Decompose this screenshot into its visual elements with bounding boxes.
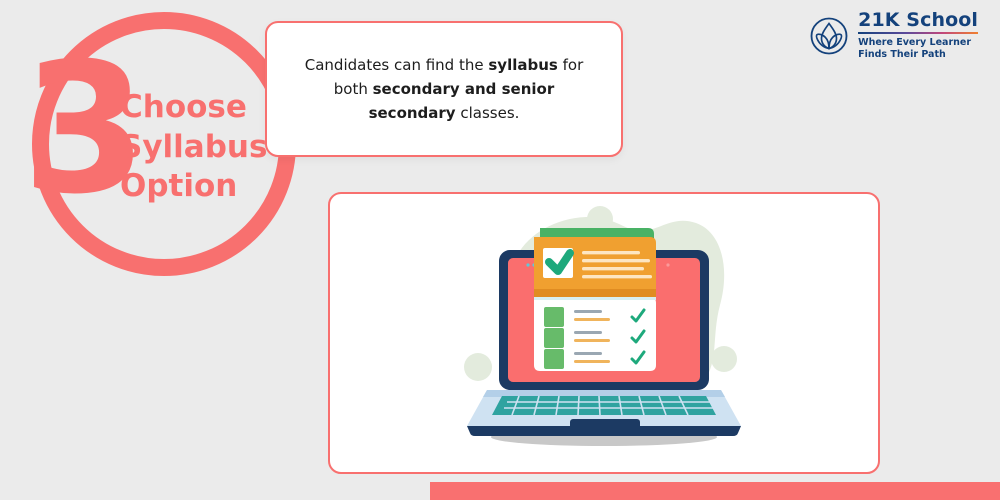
callout-box: Candidates can find the syllabus for bot… bbox=[265, 21, 623, 157]
slide-canvas: 3 Choose Syllabus Option Candidates can … bbox=[0, 0, 1000, 500]
callout-text: Candidates can find the syllabus for bot… bbox=[267, 53, 621, 126]
logo-tagline: Where Every Learner Finds Their Path bbox=[858, 37, 978, 61]
step-number: 3 bbox=[22, 40, 132, 220]
step-title: Choose Syllabus Option bbox=[120, 88, 267, 207]
illustration-wrapper bbox=[330, 194, 878, 472]
lotus-circle-icon bbox=[809, 16, 849, 56]
logo-name: 21K School bbox=[858, 11, 978, 30]
laptop-checklist-illustration bbox=[454, 197, 754, 469]
brand-logo: 21K School Where Every Learner Finds The… bbox=[809, 11, 978, 61]
checklist-window bbox=[534, 228, 656, 371]
illustration-card bbox=[328, 192, 880, 474]
laptop-front-lip bbox=[467, 426, 741, 436]
logo-text-block: 21K School Where Every Learner Finds The… bbox=[858, 11, 978, 61]
laptop-keyboard bbox=[492, 396, 716, 415]
bottom-accent-bar bbox=[430, 482, 1000, 500]
logo-gradient-rule bbox=[858, 32, 978, 34]
